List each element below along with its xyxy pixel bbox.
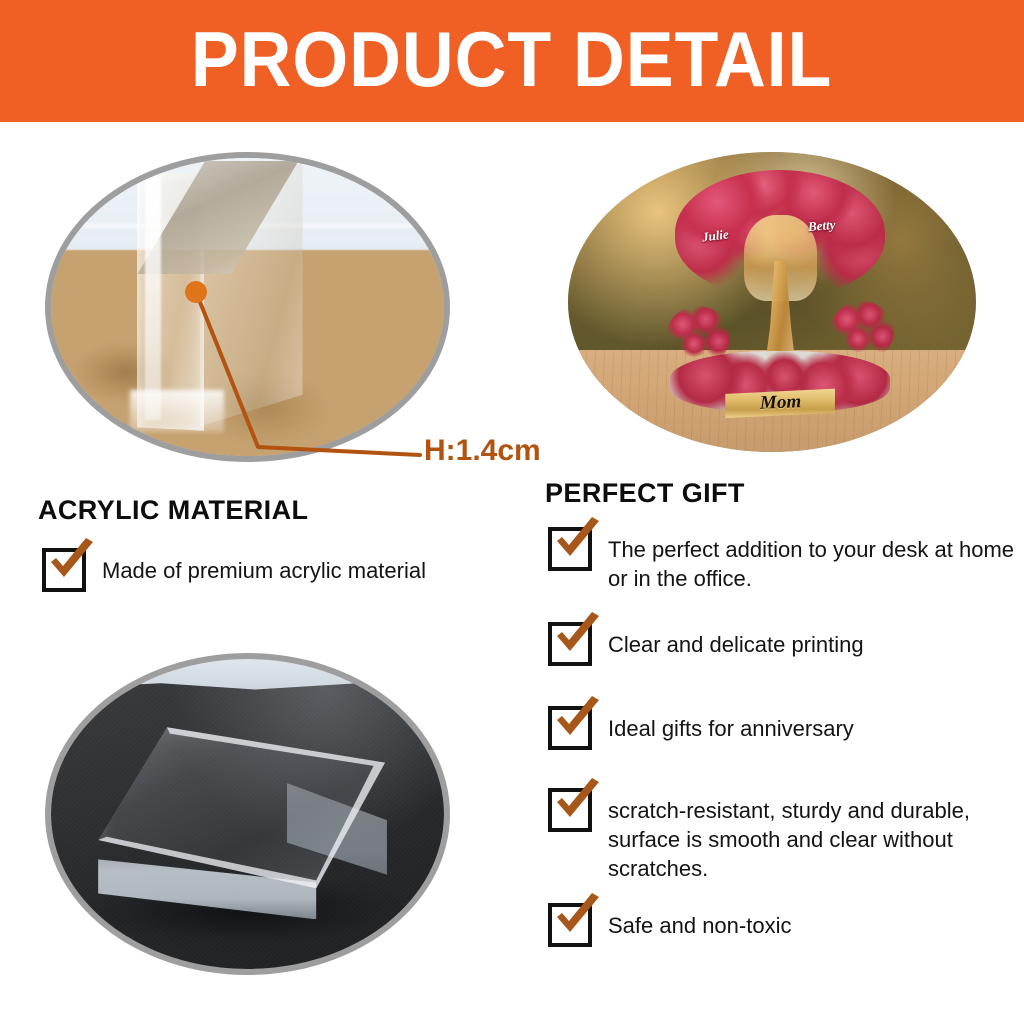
banner-name-mom: Mom (759, 391, 801, 414)
acrylic-block-on-slate-photo (45, 653, 450, 975)
checkmark-icon (549, 891, 605, 947)
wood-table-background (51, 158, 444, 456)
feature-text: Made of premium acrylic material (102, 548, 426, 585)
feature-item-perfect-addition[interactable]: The perfect addition to your desk at hom… (548, 527, 1018, 593)
checkbox-checked[interactable] (548, 903, 592, 947)
checkmark-icon (549, 610, 605, 666)
acrylic-slab-base-glow (130, 390, 224, 432)
page-title: PRODUCT DETAIL (191, 20, 832, 98)
checkmark-icon (549, 776, 605, 832)
checkbox-checked[interactable] (548, 527, 592, 571)
feature-text: Safe and non-toxic (608, 903, 791, 940)
bokeh-background: Mom Julie Betty (568, 152, 976, 452)
crystal-rose-tree-photo: Mom Julie Betty (568, 152, 976, 452)
right-rose-bush (830, 301, 894, 361)
feature-item-anniversary-gift[interactable]: Ideal gifts for anniversary (548, 706, 854, 750)
feature-text: The perfect addition to your desk at hom… (608, 527, 1018, 593)
measurement-label: H:1.4cm (424, 434, 541, 468)
feature-item-scratch-resistant[interactable]: scratch-resistant, sturdy and durable, s… (548, 788, 1018, 883)
acrylic-edge-on-wood-photo (45, 152, 450, 462)
section-heading-perfect-gift: PERFECT GIFT (545, 478, 745, 509)
section-heading-acrylic-material: ACRYLIC MATERIAL (38, 495, 308, 526)
rose-name-right: Betty (807, 217, 836, 235)
feature-text: scratch-resistant, sturdy and durable, s… (608, 788, 1018, 883)
feature-item-safe-non-toxic[interactable]: Safe and non-toxic (548, 903, 791, 947)
feature-text: Clear and delicate printing (608, 622, 864, 659)
feature-text: Ideal gifts for anniversary (608, 706, 854, 743)
rose-tree-figurine: Mom Julie Betty (666, 170, 894, 422)
checkbox-checked[interactable] (42, 548, 86, 592)
acrylic-slab-highlight (145, 176, 161, 420)
feature-item-clear-printing[interactable]: Clear and delicate printing (548, 622, 864, 666)
checkbox-checked[interactable] (548, 788, 592, 832)
checkmark-icon (549, 515, 605, 571)
checkmark-icon (549, 694, 605, 750)
slate-background (51, 659, 444, 969)
checkbox-checked[interactable] (548, 622, 592, 666)
checkbox-checked[interactable] (548, 706, 592, 750)
header-banner: PRODUCT DETAIL (0, 0, 1024, 122)
checkmark-icon (43, 536, 99, 592)
feature-item-acrylic-material[interactable]: Made of premium acrylic material (42, 548, 426, 592)
rose-name-left: Julie (702, 226, 730, 245)
